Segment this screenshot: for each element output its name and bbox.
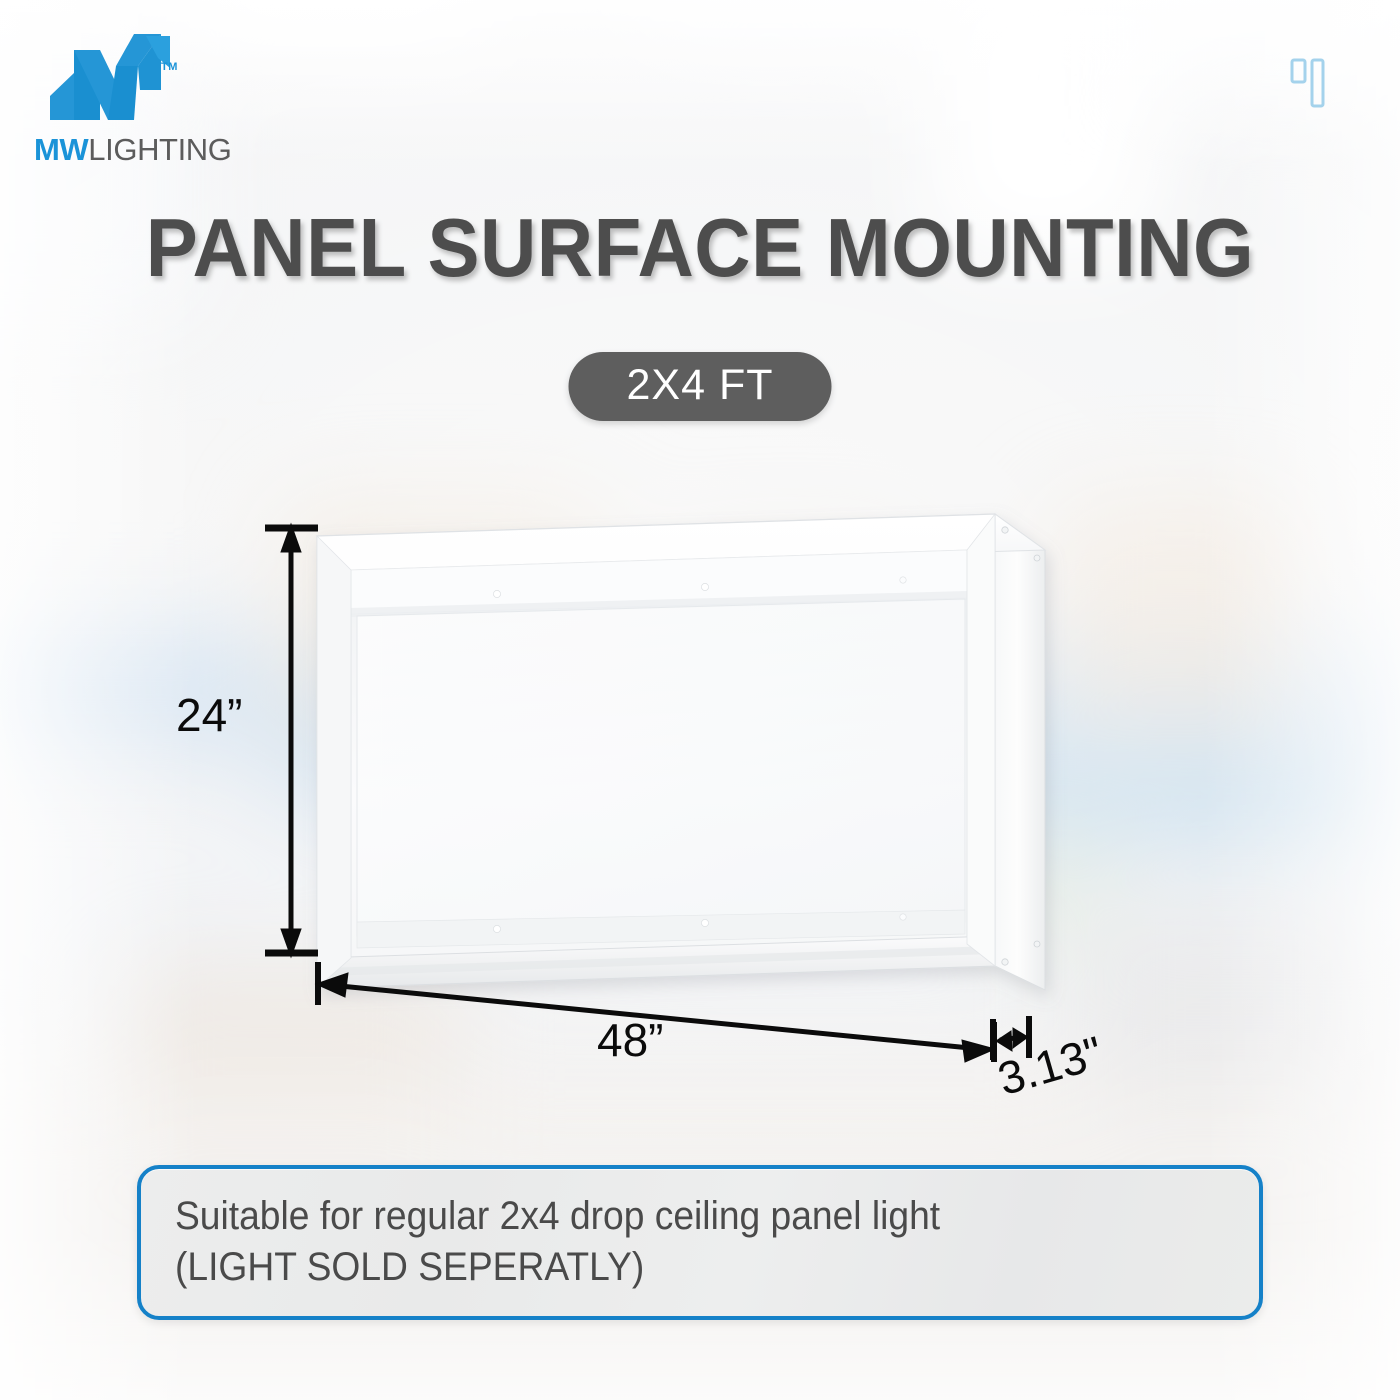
- brand-name-primary: MW: [34, 132, 88, 167]
- surface-mount-frame-illustration: [305, 492, 1045, 1032]
- brand-wordmark: MWLIGHTING: [34, 132, 232, 168]
- page-title: PANEL SURFACE MOUNTING: [42, 206, 1358, 289]
- brand-logo: TM MWLIGHTING: [30, 28, 280, 153]
- bar-glyph-watermark-icon: [1286, 48, 1352, 114]
- trademark-symbol: TM: [161, 61, 178, 73]
- mw-arrow-logo-icon: [30, 28, 190, 128]
- caption-line-2: (LIGHT SOLD SEPERATLY): [175, 1242, 1152, 1293]
- size-badge: 2X4 FT: [569, 352, 832, 421]
- caption-box: Suitable for regular 2x4 drop ceiling pa…: [137, 1165, 1263, 1320]
- brand-name-secondary: LIGHTING: [88, 132, 231, 167]
- caption-line-1: Suitable for regular 2x4 drop ceiling pa…: [175, 1191, 1152, 1242]
- product-image: [305, 492, 1045, 1032]
- poster-canvas: TM MWLIGHTING PANEL SURFACE MOUNTING 2X4…: [0, 0, 1400, 1400]
